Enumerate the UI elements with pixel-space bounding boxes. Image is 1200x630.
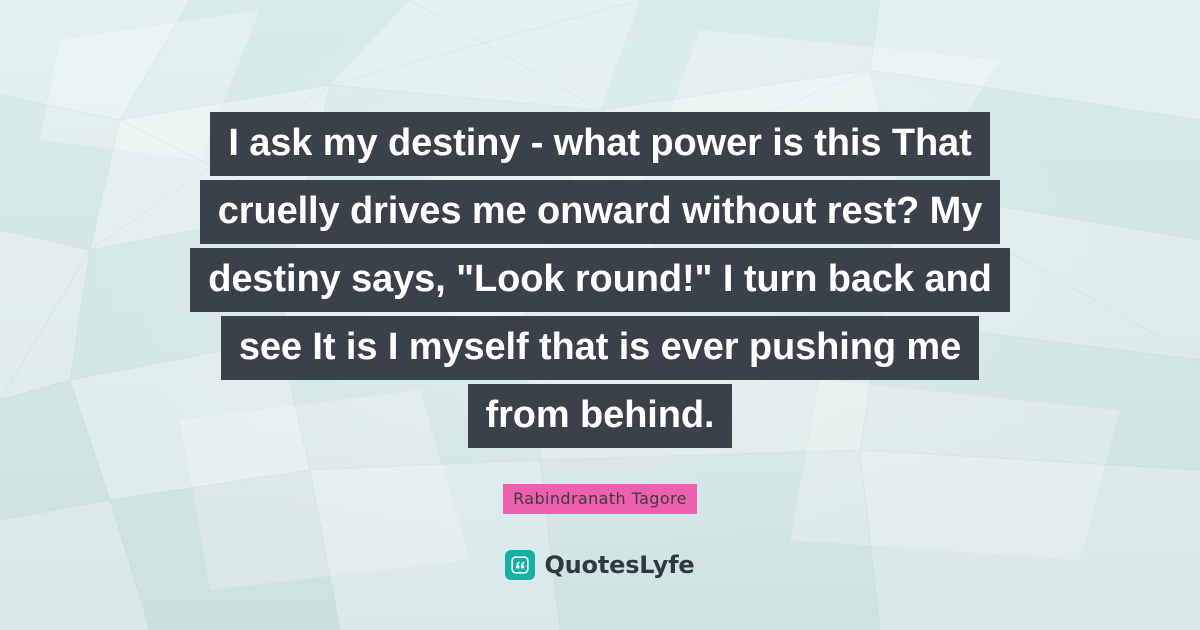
author-name: Rabindranath Tagore [503, 484, 697, 514]
quote-line: from behind. [468, 384, 733, 448]
brand-logo: QuotesLyfe [505, 550, 694, 580]
quote-line: I ask my destiny - what power is this Th… [210, 112, 989, 176]
quote-line: cruelly drives me onward without rest? M… [200, 180, 1001, 244]
author-row: Rabindranath Tagore [0, 484, 1200, 514]
quote-line: destiny says, "Look round!" I turn back … [190, 248, 1009, 312]
quote-mark-icon [505, 550, 535, 580]
brand-name: QuotesLyfe [544, 551, 694, 579]
quote-text: I ask my destiny - what power is this Th… [0, 112, 1200, 452]
poster-content: I ask my destiny - what power is this Th… [0, 0, 1200, 630]
quote-line: see It is I myself that is ever pushing … [221, 316, 979, 380]
quote-poster: I ask my destiny - what power is this Th… [0, 0, 1200, 630]
